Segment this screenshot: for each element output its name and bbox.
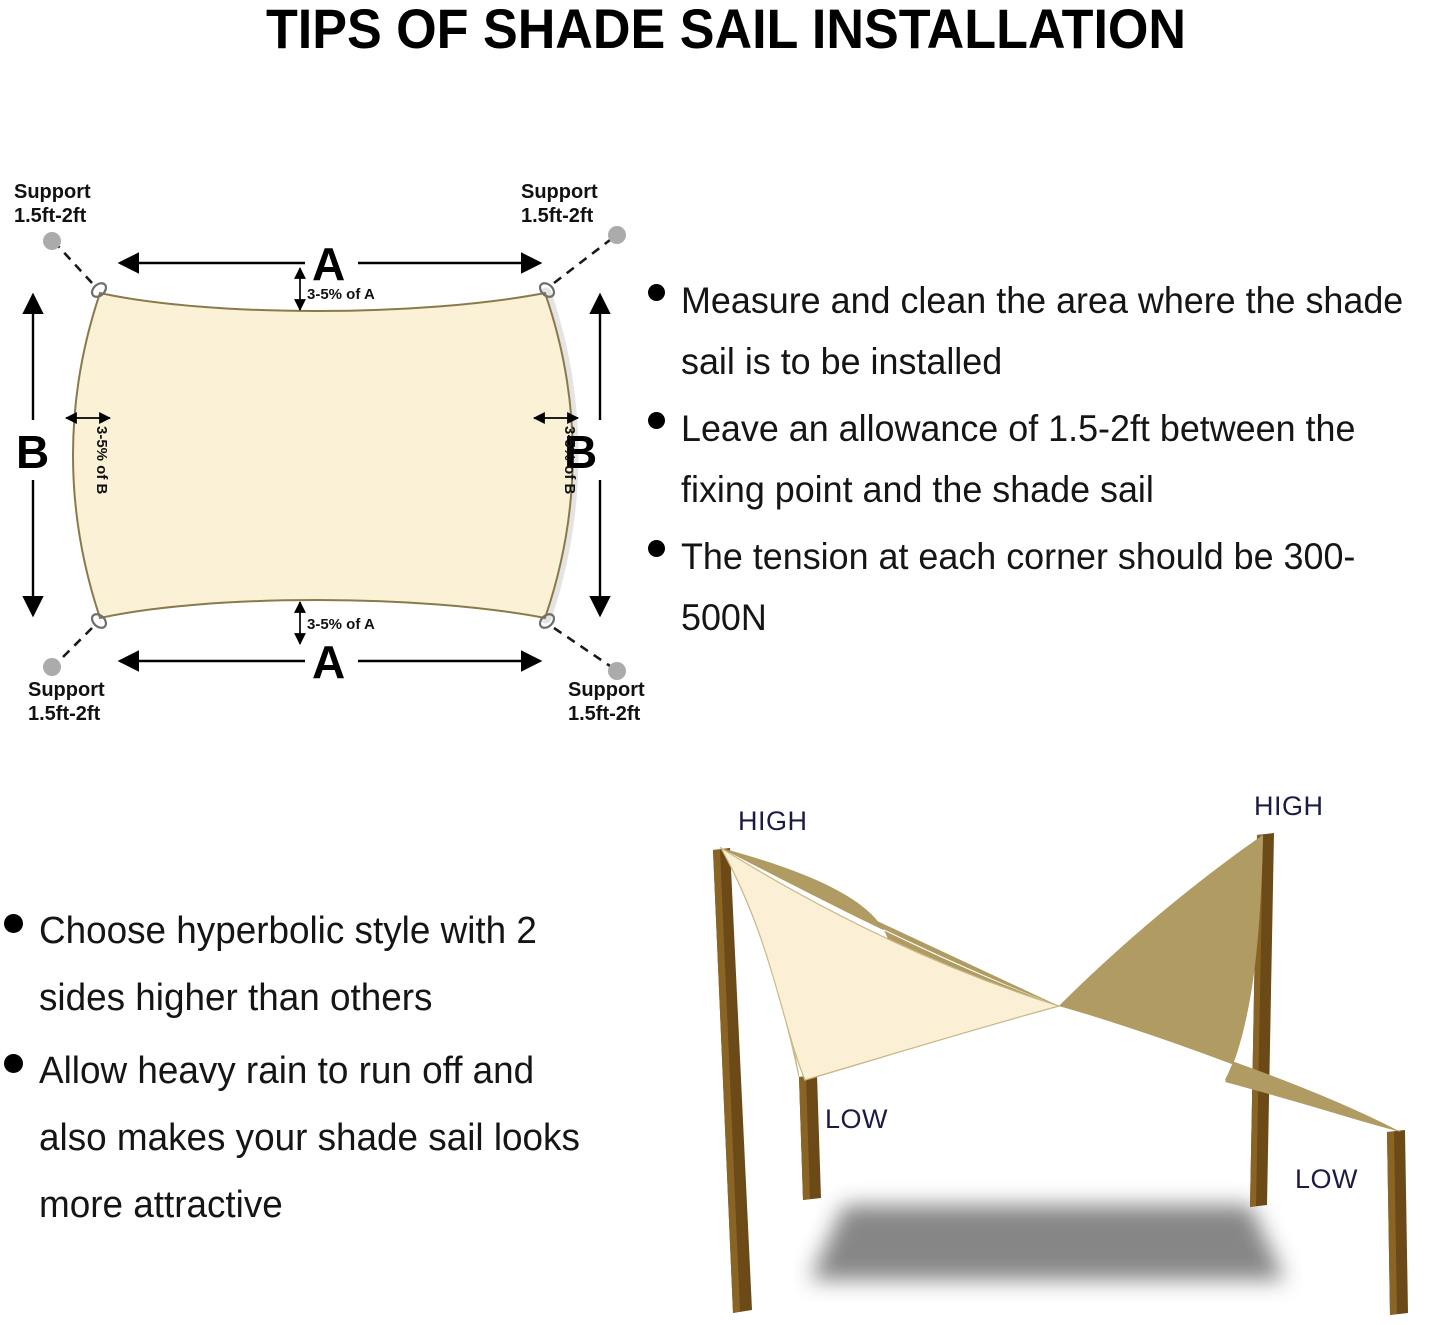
curvature-label-bottom: 3-5% of A — [307, 616, 375, 633]
hyperbolic-sail-diagram: HIGH HIGH LOW LOW — [660, 780, 1452, 1325]
support-dot-top-left — [43, 232, 61, 250]
support-label-top-left-line1: Support — [14, 181, 91, 203]
curvature-label-top: 3-5% of A — [307, 286, 375, 303]
support-label-bottom-left-line1: Support — [28, 679, 105, 701]
support-label-bottom-left-line2: 1.5ft-2ft — [28, 703, 101, 725]
post-back-left — [713, 848, 752, 1313]
support-dot-bottom-right — [608, 662, 626, 680]
list-item: Allow heavy rain to run off and also mak… — [4, 1038, 628, 1239]
support-label-top-right-line2: 1.5ft-2ft — [521, 205, 594, 227]
list-item: Choose hyperbolic style with 2 sides hig… — [4, 898, 628, 1032]
post-front-left — [799, 1075, 821, 1200]
label-high-back-left: HIGH — [738, 806, 808, 836]
installation-tips-list: Measure and clean the area where the sha… — [648, 270, 1452, 654]
support-dot-top-right — [608, 226, 626, 244]
page-title: TIPS OF SHADE SAIL INSTALLATION — [51, 0, 1401, 62]
ground-shadow — [810, 1205, 1285, 1280]
filled-circle-bullet-icon — [648, 540, 665, 557]
support-label-top-right-line1: Support — [521, 181, 598, 203]
infographic-page: TIPS OF SHADE SAIL INSTALLATION — [0, 0, 1452, 1325]
filled-circle-bullet-icon — [648, 284, 665, 301]
curvature-label-left: 3-5% of B — [93, 426, 110, 495]
filled-circle-bullet-icon — [4, 1054, 23, 1073]
post-front-right — [1387, 1130, 1408, 1315]
label-low-front-left: LOW — [825, 1104, 888, 1134]
support-label-top-left-line2: 1.5ft-2ft — [14, 205, 87, 227]
sail-shape — [73, 293, 573, 618]
curvature-label-right: 3-5% of B — [561, 426, 578, 495]
style-tips-list: Choose hyperbolic style with 2 sides hig… — [4, 898, 628, 1245]
label-high-back-right: HIGH — [1254, 791, 1324, 821]
dimension-letter-a-top: A — [312, 238, 345, 290]
dimension-letter-a-bottom: A — [312, 636, 345, 688]
list-item: Leave an allowance of 1.5-2ft between th… — [648, 398, 1452, 520]
support-label-bottom-right-line1: Support — [568, 679, 645, 701]
filled-circle-bullet-icon — [4, 914, 23, 933]
style-tip-text: Allow heavy rain to run off and also mak… — [39, 1038, 610, 1239]
list-item: Measure and clean the area where the sha… — [648, 270, 1452, 392]
support-label-bottom-right-line2: 1.5ft-2ft — [568, 703, 641, 725]
tip-text: The tension at each corner should be 300… — [681, 526, 1429, 648]
tip-text: Measure and clean the area where the sha… — [681, 270, 1429, 392]
label-low-front-right: LOW — [1295, 1164, 1358, 1194]
rectangular-sail-diagram: Support 1.5ft-2ft Support 1.5ft-2ft Supp… — [0, 150, 670, 750]
filled-circle-bullet-icon — [648, 412, 665, 429]
sail-surface-light — [721, 848, 1059, 1080]
dimension-letter-b-left: B — [16, 426, 49, 478]
list-item: The tension at each corner should be 300… — [648, 526, 1452, 648]
tip-text: Leave an allowance of 1.5-2ft between th… — [681, 398, 1429, 520]
support-dot-bottom-left — [43, 658, 61, 676]
style-tip-text: Choose hyperbolic style with 2 sides hig… — [39, 898, 610, 1032]
